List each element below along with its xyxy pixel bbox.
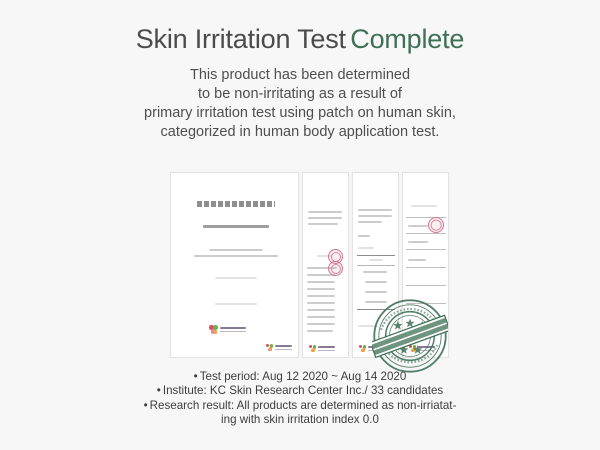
p2-row-6 xyxy=(307,302,335,304)
bullet-item-research-result-continuation: ing with skin irritation index 0.0 xyxy=(0,413,600,427)
p4-rule-4 xyxy=(406,267,446,268)
cover-title-text xyxy=(203,225,269,228)
cover-sub-3 xyxy=(215,277,257,279)
footer-logo-text xyxy=(318,346,335,350)
subtitle-line-3: primary irritation test using patch on h… xyxy=(144,104,456,123)
p3-line-3 xyxy=(358,221,382,223)
bullet-marker: • xyxy=(157,384,161,397)
bullet-item-test-period: •Test period: Aug 12 2020 ~ Aug 14 2020 xyxy=(0,370,600,384)
skin-test-complete-stamp-icon xyxy=(372,298,448,374)
p2-line-1 xyxy=(308,211,342,213)
p2-row-10 xyxy=(307,330,333,332)
subtitle-line-2: to be non-irritating as a result of xyxy=(144,85,456,104)
red-seal-stamp xyxy=(428,217,444,233)
subtitle-line-4: categorized in human body application te… xyxy=(144,123,456,142)
subtitle-line-1: This product has been determined xyxy=(144,66,456,85)
p4-row-1 xyxy=(408,225,428,227)
subtitle-block: This product has been determined to be n… xyxy=(144,66,456,142)
p4-row-2 xyxy=(408,241,428,243)
p4-row-3 xyxy=(408,259,426,261)
p2-row-5 xyxy=(307,295,335,297)
institute-logo-text xyxy=(220,327,246,332)
p3-date-3 xyxy=(365,291,387,293)
document-page-2[interactable] xyxy=(302,172,349,358)
p3-label-1 xyxy=(358,235,370,237)
flower-mark-icon xyxy=(209,325,218,334)
p2-row-9 xyxy=(307,323,335,325)
bullet-text: Institute: KC Skin Research Center Inc./… xyxy=(163,384,443,397)
page-title-main: Skin Irritation Test xyxy=(136,24,346,54)
p3-table-head xyxy=(369,259,383,261)
p3-table-rule-top xyxy=(357,255,395,256)
p3-date-2 xyxy=(365,281,387,283)
flower-mark-icon xyxy=(266,344,273,351)
page-title-accent: Complete xyxy=(350,24,464,54)
p3-table-rule-mid xyxy=(357,265,395,266)
cover-sub-1 xyxy=(209,249,263,251)
bullet-item-institute: •Institute: KC Skin Research Center Inc.… xyxy=(0,384,600,398)
p3-line-2 xyxy=(358,215,392,217)
p4-rule-5 xyxy=(406,285,446,286)
flower-mark-icon xyxy=(359,345,366,352)
page-footer-logo-icon xyxy=(266,344,292,351)
p3-line-1 xyxy=(358,209,392,211)
document-page-cover[interactable] xyxy=(170,172,299,358)
red-seal-stamp-lower xyxy=(328,261,343,276)
footer-logo-text xyxy=(275,345,292,349)
cover-header-stamp xyxy=(197,201,275,207)
p2-line-2 xyxy=(308,217,342,219)
page-title: Skin Irritation Test Complete xyxy=(136,24,465,55)
p3-label-2 xyxy=(358,247,374,249)
bullet-marker: • xyxy=(194,370,198,383)
cover-sub-4 xyxy=(215,303,257,305)
p2-row-3 xyxy=(307,281,335,283)
skin-irritation-test-card: Skin Irritation Test Complete This produ… xyxy=(0,0,600,450)
flower-mark-icon xyxy=(309,345,316,352)
bullet-marker: • xyxy=(144,399,148,412)
p4-rule-3 xyxy=(406,249,446,250)
p4-rule-2 xyxy=(406,233,446,234)
p2-row-7 xyxy=(307,309,335,311)
p3-date-1 xyxy=(363,271,387,273)
institute-logo-icon xyxy=(209,325,246,334)
cover-sub-2 xyxy=(194,255,278,257)
p2-row-8 xyxy=(307,316,335,318)
detail-bullet-list: •Test period: Aug 12 2020 ~ Aug 14 2020 … xyxy=(0,370,600,428)
p2-row-4 xyxy=(307,288,335,290)
page-footer-logo-icon xyxy=(309,345,335,352)
bullet-text: Research result: All products are determ… xyxy=(150,399,457,412)
p2-line-3 xyxy=(308,223,338,225)
bullet-item-research-result: •Research result: All products are deter… xyxy=(0,399,600,413)
p4-line-1 xyxy=(411,205,437,207)
